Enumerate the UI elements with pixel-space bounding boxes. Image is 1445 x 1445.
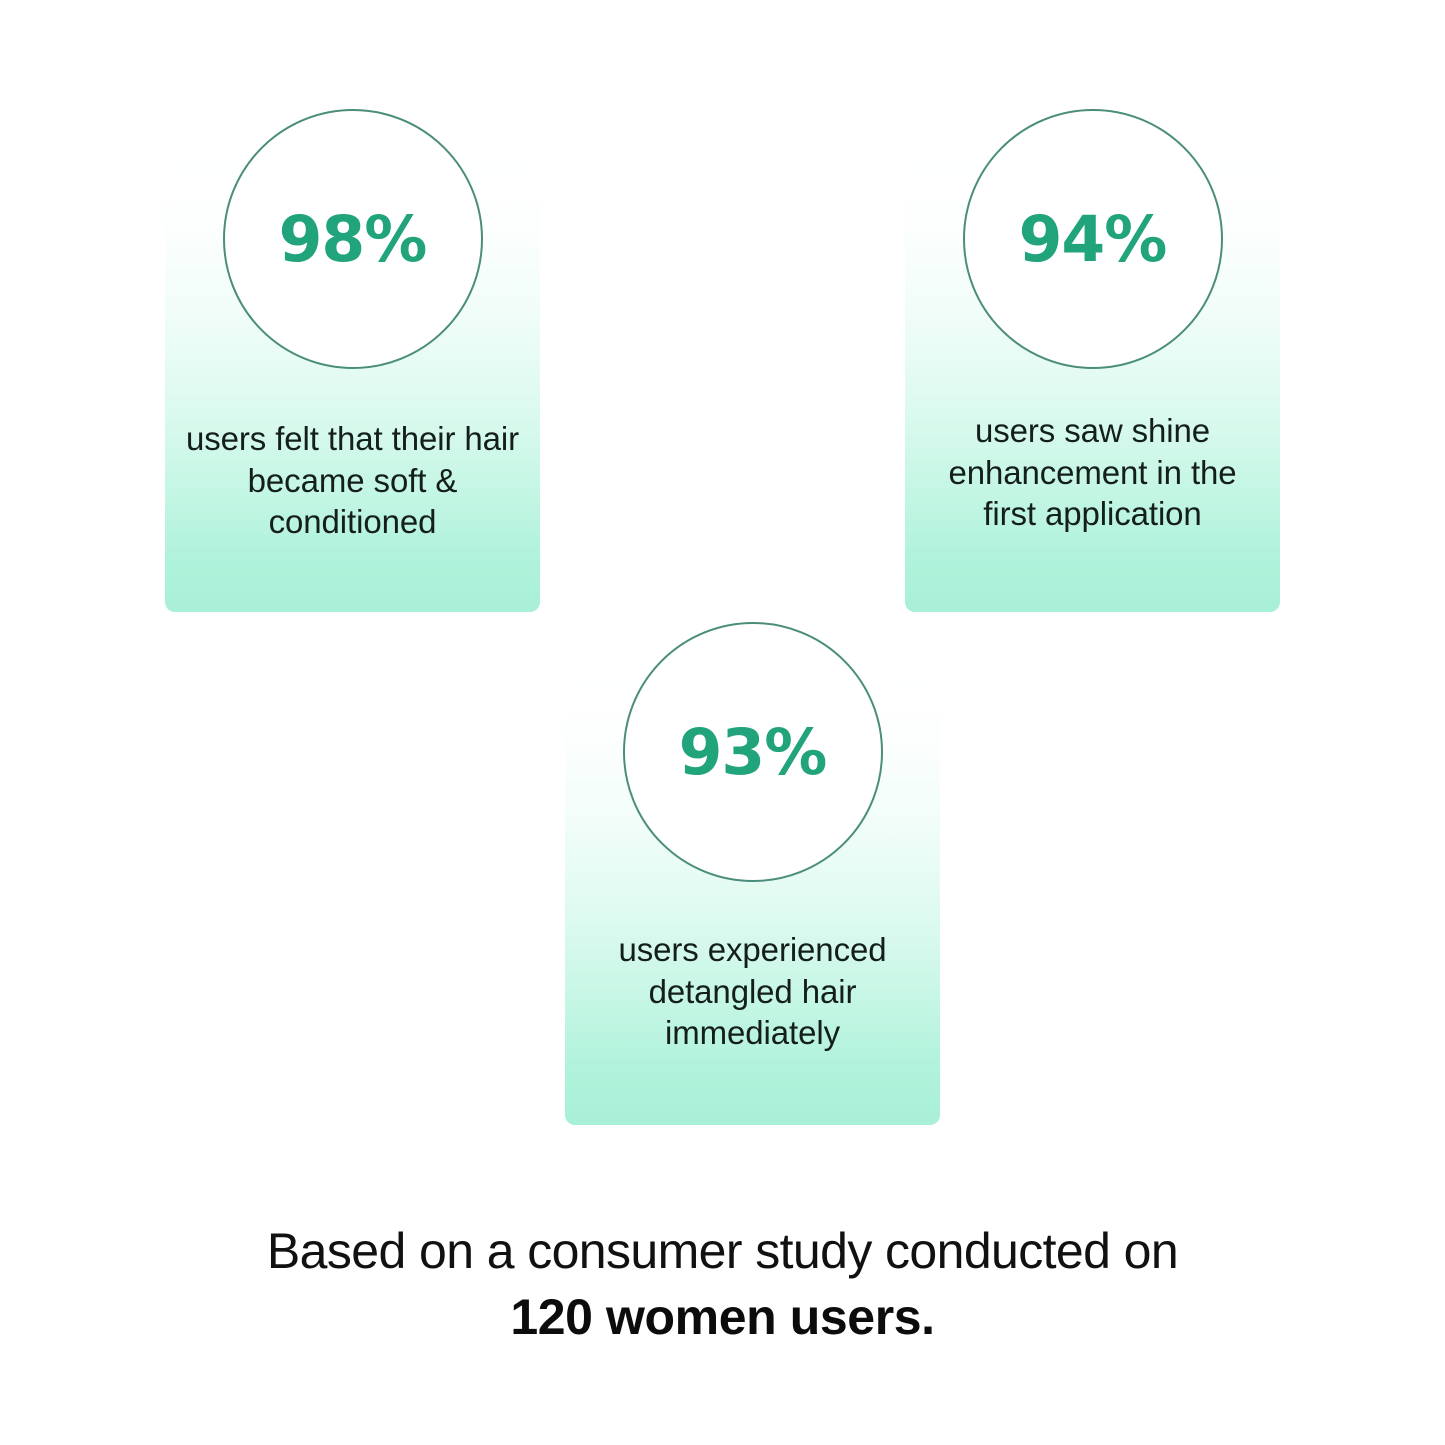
stat-caption-detangled-hair: users experienced detangled hair immedia… [579, 929, 926, 1054]
stat-percent-detangled-hair: 93% [679, 721, 827, 784]
stat-circle-shine-enhancement: 94% [963, 109, 1223, 369]
stat-percent-shine-enhancement: 94% [1019, 208, 1167, 271]
study-footnote-line-1: Based on a consumer study conducted on [0, 1222, 1445, 1281]
stat-circle-detangled-hair: 93% [623, 622, 883, 882]
infographic-root: 98% users felt that their hair became so… [0, 0, 1445, 1445]
stat-caption-shine-enhancement: users saw shine enhancement in the first… [919, 410, 1266, 535]
study-footnote: Based on a consumer study conducted on 1… [0, 1222, 1445, 1348]
stat-circle-soft-conditioned: 98% [223, 109, 483, 369]
study-footnote-line-2: 120 women users. [0, 1287, 1445, 1348]
stat-caption-soft-conditioned: users felt that their hair became soft &… [179, 418, 526, 543]
stat-card-soft-conditioned: 98% users felt that their hair became so… [165, 150, 540, 612]
stat-percent-soft-conditioned: 98% [279, 208, 427, 271]
stat-card-detangled-hair: 93% users experienced detangled hair imm… [565, 663, 940, 1125]
stat-card-shine-enhancement: 94% users saw shine enhancement in the f… [905, 150, 1280, 612]
